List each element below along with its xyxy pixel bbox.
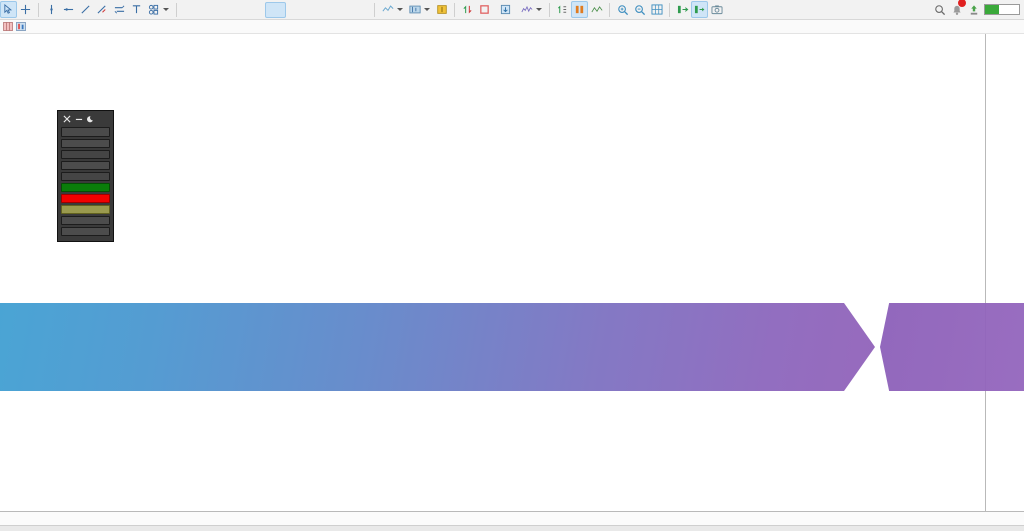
rrr-indicator-panel[interactable] (57, 110, 114, 242)
chart-window-icon (3, 22, 13, 31)
chart-type-group (379, 0, 450, 20)
screenshot-icon[interactable] (708, 1, 725, 18)
chart-shift-icon[interactable] (691, 1, 708, 18)
timeframes-group (181, 0, 370, 20)
chart-candle-icon (16, 22, 26, 31)
status-group (931, 0, 1024, 20)
panel-levels-value[interactable] (61, 150, 110, 159)
trendline-by-angle-icon[interactable] (94, 1, 111, 18)
sell-button[interactable] (61, 194, 110, 203)
connection-strength-fill (985, 5, 999, 14)
crosshair-icon[interactable] (17, 1, 34, 18)
equidistant-channel-icon[interactable] (111, 1, 128, 18)
panel-slpips-label[interactable] (61, 161, 110, 170)
objects-dropdown-caret-icon[interactable] (163, 8, 169, 11)
toolbar-divider (374, 3, 375, 17)
toolbar-divider (454, 3, 455, 17)
panel-levels-label[interactable] (61, 139, 110, 148)
view-group (554, 0, 605, 20)
volumes-icon[interactable] (571, 1, 588, 18)
drawing-tools-group (0, 0, 172, 20)
buy-button[interactable] (61, 183, 110, 192)
price-axis[interactable] (985, 34, 1024, 511)
timeframe-h4[interactable] (286, 2, 307, 18)
indicators-icon[interactable] (518, 1, 535, 18)
bar-chart-icon[interactable] (406, 1, 423, 18)
theme-moon-icon[interactable] (87, 115, 95, 123)
chart-canvas[interactable] (0, 34, 985, 511)
zoom-group (614, 0, 665, 20)
timeframe-d1[interactable] (307, 2, 328, 18)
time-axis[interactable] (0, 511, 1024, 531)
mt5-terminal-window (0, 0, 1024, 531)
panel-timer (61, 127, 110, 137)
scroll-group (674, 0, 725, 20)
text-label-icon[interactable] (128, 1, 145, 18)
toolbar-divider (38, 3, 39, 17)
panel-titlebar (61, 114, 110, 125)
timeframe-m1[interactable] (181, 2, 202, 18)
cursor-icon[interactable] (0, 1, 17, 18)
timeframe-m5[interactable] (202, 2, 223, 18)
connection-strength-bar (984, 4, 1020, 15)
auto-scroll-icon[interactable] (674, 1, 691, 18)
timeframe-h1[interactable] (265, 2, 286, 18)
close-icon[interactable] (63, 115, 71, 123)
autotrading-arrows-icon[interactable] (459, 1, 476, 18)
timeframe-m30[interactable] (244, 2, 265, 18)
main-toolbar (0, 0, 1024, 20)
zoom-out-icon[interactable] (631, 1, 648, 18)
zigzag-icon[interactable] (588, 1, 605, 18)
rate-txt-button[interactable] (61, 227, 110, 236)
trading-group (459, 0, 545, 20)
zoom-in-icon[interactable] (614, 1, 631, 18)
toolbar-divider (609, 3, 610, 17)
minimize-icon[interactable] (75, 115, 83, 123)
connection-icon[interactable] (965, 1, 982, 18)
bar-chart-caret-icon[interactable] (424, 8, 430, 11)
timeframe-w1[interactable] (328, 2, 349, 18)
timeframe-mn[interactable] (349, 2, 370, 18)
timeframe-m15[interactable] (223, 2, 244, 18)
vertical-line-icon[interactable] (43, 1, 60, 18)
algo-trading-stop-icon[interactable] (476, 1, 493, 18)
delete-button[interactable] (61, 205, 110, 214)
objects-list-icon[interactable] (145, 1, 162, 18)
toolbar-divider (176, 3, 177, 17)
line-chart-icon[interactable] (379, 1, 396, 18)
grid-toggle-icon[interactable] (648, 1, 665, 18)
time-axis-scrollbar[interactable] (0, 525, 1024, 531)
chart-header (0, 20, 1024, 34)
indicators-caret-icon[interactable] (536, 8, 542, 11)
panel-slpips-value[interactable] (61, 172, 110, 181)
search-icon[interactable] (931, 1, 948, 18)
toolbar-divider (669, 3, 670, 17)
new-order-icon[interactable] (497, 1, 514, 18)
notifications-bell-icon[interactable] (948, 1, 965, 18)
horizontal-button[interactable] (61, 216, 110, 225)
trendline-icon[interactable] (77, 1, 94, 18)
horizontal-line-icon[interactable] (60, 1, 77, 18)
chart-type-caret-icon[interactable] (397, 8, 403, 11)
candlestick-chart-icon[interactable] (433, 1, 450, 18)
period-separator-icon[interactable] (554, 1, 571, 18)
toolbar-divider (549, 3, 550, 17)
